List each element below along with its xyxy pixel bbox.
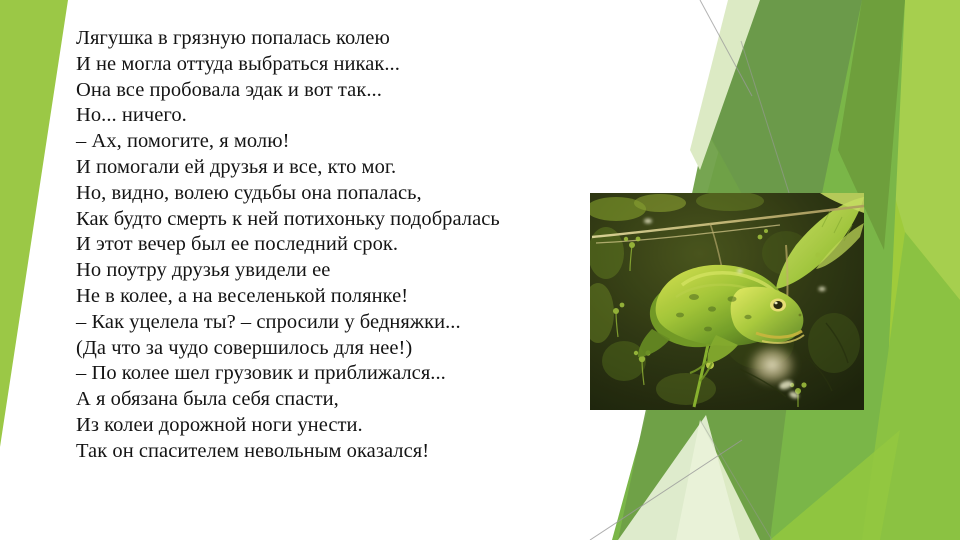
frog-photograph [590, 193, 864, 410]
poem-line: Она все пробовала эдак и вот так... [76, 78, 596, 104]
poem-line: Не в колее, а на веселенькой полянке! [76, 284, 596, 310]
hairline-lower-diagonal [590, 440, 742, 540]
facet-pale-upper [690, 0, 760, 170]
poem-line: И этот вечер был ее последний срок. [76, 232, 596, 258]
poem-line: Из колеи дорожной ноги унести. [76, 413, 596, 439]
poem-line: А я обязана была себя спасти, [76, 387, 596, 413]
hairline-upper-diagonal [700, 0, 752, 96]
slide-canvas: Лягушка в грязную попалась колею И не мо… [0, 0, 960, 540]
facet-left-wedge [0, 0, 68, 447]
hairline-photo-diagonal [741, 41, 790, 196]
poem-line: – По колее шел грузовик и приближался... [76, 361, 596, 387]
poem-line: (Да что за чудо совершилось для нее!) [76, 336, 596, 362]
poem-line: Так он спасителем невольным оказался! [76, 439, 596, 465]
poem-line: Но поутру друзья увидели ее [76, 258, 596, 284]
poem-line: – Ах, помогите, я молю! [76, 129, 596, 155]
poem-line: Как будто смерть к ней потихоньку подобр… [76, 207, 596, 233]
facet-bottom-bright [770, 430, 900, 540]
poem-line: – Как уцелела ты? – спросили у бедняжки.… [76, 310, 596, 336]
hairline-lower-diagonal-2 [700, 420, 772, 540]
photo-soft-edge-mask [590, 193, 864, 410]
facet-pale-lower [676, 420, 760, 540]
poem-line: И не могла оттуда выбраться никак... [76, 52, 596, 78]
poem-line: И помогали ей друзья и все, кто мог. [76, 155, 596, 181]
poem-line: Но, видно, волею судьбы она попалась, [76, 181, 596, 207]
poem-block: Лягушка в грязную попалась колею И не мо… [76, 26, 596, 465]
facet-very-pale-bottom [618, 415, 740, 540]
facet-right-sliver-lower [862, 232, 960, 540]
poem-line: Лягушка в грязную попалась колею [76, 26, 596, 52]
poem-line: Но... ничего. [76, 103, 596, 129]
